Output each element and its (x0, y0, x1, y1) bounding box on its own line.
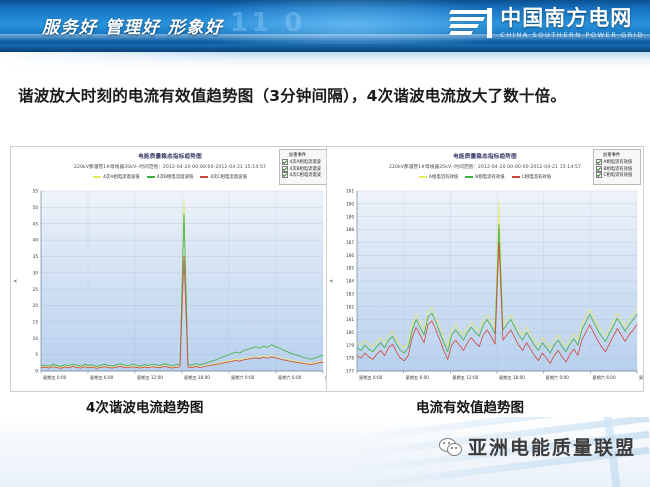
brand-name-cn: 中国南方电网 (500, 8, 644, 29)
left-series-checkbox-list[interactable]: 4次A相电流谐波4次B相电流谐波4次C相电流谐波 (282, 159, 324, 178)
checkbox-icon[interactable] (596, 159, 602, 165)
checkbox-icon[interactable] (596, 172, 602, 178)
legend-swatch-icon (147, 176, 155, 178)
series-checkbox-row[interactable]: 4次C相电流谐波 (282, 172, 324, 178)
series-checkbox-label: A相电流有效值 (604, 159, 633, 165)
checkbox-icon[interactable] (282, 166, 288, 172)
left-chart-svg: 0510152025303540455055A星期五 0:00星期五 6:00星… (11, 187, 329, 391)
legend-swatch-icon (512, 176, 520, 178)
banner-fade-strip (0, 52, 650, 68)
svg-text:191: 191 (346, 189, 354, 194)
brand-name-en: CHINA SOUTHERN POWER GRID (500, 32, 644, 39)
svg-text:178: 178 (346, 356, 354, 361)
footer: 亚洲电能质量联盟 (0, 417, 650, 487)
svg-text:星期六 6:00: 星期六 6:00 (592, 374, 616, 381)
legend-label: 4次C相电流谐波值 (210, 174, 247, 180)
svg-text:185: 185 (346, 266, 354, 271)
svg-text:星期六 12:00: 星期六 12:00 (639, 374, 643, 381)
left-chart-panel: 电能质量稳态指标趋势图 220kV那湄营1#母线器35kV--时间范围：2012… (10, 146, 330, 392)
svg-text:180: 180 (346, 330, 354, 335)
svg-text:188: 188 (346, 227, 354, 232)
right-chart-series-panel[interactable]: 加重事件 A相电流有效值B相电流有效值C相电流有效值 (593, 149, 641, 185)
right-chart-svg: 1771781791801811821831841851861871881891… (327, 187, 643, 391)
southern-power-grid-logo-icon (450, 8, 494, 38)
legend-swatch-icon (419, 176, 427, 178)
svg-text:45: 45 (33, 221, 39, 226)
svg-text:190: 190 (346, 201, 354, 206)
legend-item: 4次B相电流谐波值 (147, 174, 194, 180)
svg-text:184: 184 (346, 279, 354, 284)
svg-text:A: A (329, 279, 334, 282)
right-chart-header: 电能质量稳态指标趋势图 220kV那湄营1#母线器35kV--时间范围：2012… (327, 147, 643, 187)
svg-text:星期六 0:00: 星期六 0:00 (231, 374, 255, 381)
left-chart-caption: 4次谐波电流趋势图 (86, 396, 203, 416)
legend-label: C相电流有效值 (522, 174, 551, 180)
banner-slogan: 服务好 管理好 形象好 (42, 13, 223, 38)
right-chart-panel: 电能质量稳态指标趋势图 220kV那湄营1#母线器35kV--时间范围：2012… (326, 146, 644, 392)
legend-swatch-icon (93, 176, 101, 178)
svg-text:30: 30 (33, 270, 39, 275)
checkbox-icon[interactable] (282, 159, 288, 165)
checkbox-icon[interactable] (282, 172, 288, 178)
left-series-panel-header: 加重事件 (282, 152, 324, 158)
svg-text:40: 40 (33, 238, 39, 243)
header-banner: 11 0 服务好 管理好 形象好 中国南方电网 CHINA SOUTHERN P… (0, 0, 650, 52)
svg-text:20: 20 (33, 303, 39, 308)
legend-item: C相电流有效值 (512, 174, 551, 180)
svg-text:A: A (13, 279, 18, 282)
slide-root: 11 0 服务好 管理好 形象好 中国南方电网 CHINA SOUTHERN P… (0, 0, 650, 487)
svg-text:50: 50 (33, 205, 39, 210)
legend-item: B相电流有效值 (465, 174, 504, 180)
svg-text:10: 10 (33, 336, 39, 341)
left-chart-header: 电能质量稳态指标趋势图 220kV那湄营1#母线器35kV--时间范围：2012… (11, 147, 329, 187)
legend-item: A相电流有效值 (419, 174, 458, 180)
svg-text:55: 55 (33, 189, 39, 194)
legend-label: 4次A相电流谐波值 (103, 174, 140, 180)
legend-label: A相电流有效值 (429, 174, 458, 180)
wechat-icon (439, 438, 461, 455)
footer-logo-text: 亚洲电能质量联盟 (468, 433, 636, 460)
right-series-checkbox-list[interactable]: A相电流有效值B相电流有效值C相电流有效值 (596, 159, 638, 178)
series-checkbox-row[interactable]: 4次A相电流谐波 (282, 159, 324, 165)
svg-text:183: 183 (346, 291, 354, 296)
series-checkbox-label: 4次C相电流谐波 (290, 172, 322, 178)
series-checkbox-label: C相电流有效值 (604, 172, 633, 178)
legend-swatch-icon (200, 176, 208, 178)
svg-text:189: 189 (346, 214, 354, 219)
brand-text: 中国南方电网 CHINA SOUTHERN POWER GRID (500, 8, 644, 39)
svg-text:15: 15 (33, 320, 39, 325)
series-checkbox-row[interactable]: C相电流有效值 (596, 172, 638, 178)
left-chart-plot: 0510152025303540455055A星期五 0:00星期五 6:00星… (11, 187, 329, 391)
legend-item: 4次C相电流谐波值 (200, 174, 247, 180)
series-checkbox-row[interactable]: 4次B相电流谐波 (282, 166, 324, 172)
left-chart-series-panel[interactable]: 加重事件 4次A相电流谐波4次B相电流谐波4次C相电流谐波 (279, 149, 327, 185)
svg-text:星期六 0:00: 星期六 0:00 (546, 374, 570, 381)
series-checkbox-label: B相电流有效值 (604, 166, 633, 172)
legend-item: 4次A相电流谐波值 (93, 174, 140, 180)
legend-label: B相电流有效值 (475, 174, 504, 180)
banner-underline (0, 44, 650, 52)
series-checkbox-label: 4次A相电流谐波 (290, 159, 321, 165)
right-series-panel-header: 加重事件 (596, 152, 638, 158)
svg-text:35: 35 (33, 254, 39, 259)
svg-text:0: 0 (35, 369, 38, 374)
svg-text:187: 187 (346, 240, 354, 245)
series-checkbox-row[interactable]: B相电流有效值 (596, 166, 638, 172)
svg-text:25: 25 (33, 287, 39, 292)
svg-text:179: 179 (346, 343, 354, 348)
checkbox-icon[interactable] (596, 166, 602, 172)
svg-text:182: 182 (346, 304, 354, 309)
page-title: 谐波放大时刻的电流有效值趋势图（3分钟间隔），4次谐波电流放大了数十倍。 (18, 84, 636, 106)
right-chart-plot: 1771781791801811821831841851861871881891… (327, 187, 643, 391)
svg-text:177: 177 (346, 369, 354, 374)
footer-logo: 亚洲电能质量联盟 (439, 433, 636, 460)
right-chart-caption: 电流有效值趋势图 (416, 396, 524, 416)
brand-lockup: 中国南方电网 CHINA SOUTHERN POWER GRID (450, 8, 644, 39)
series-checkbox-row[interactable]: A相电流有效值 (596, 159, 638, 165)
svg-text:5: 5 (35, 352, 38, 357)
svg-text:星期六 6:00: 星期六 6:00 (278, 374, 302, 381)
svg-text:181: 181 (346, 317, 354, 322)
legend-swatch-icon (465, 176, 473, 178)
series-checkbox-label: 4次B相电流谐波 (290, 166, 321, 172)
svg-text:186: 186 (346, 253, 354, 258)
legend-label: 4次B相电流谐波值 (157, 174, 194, 180)
